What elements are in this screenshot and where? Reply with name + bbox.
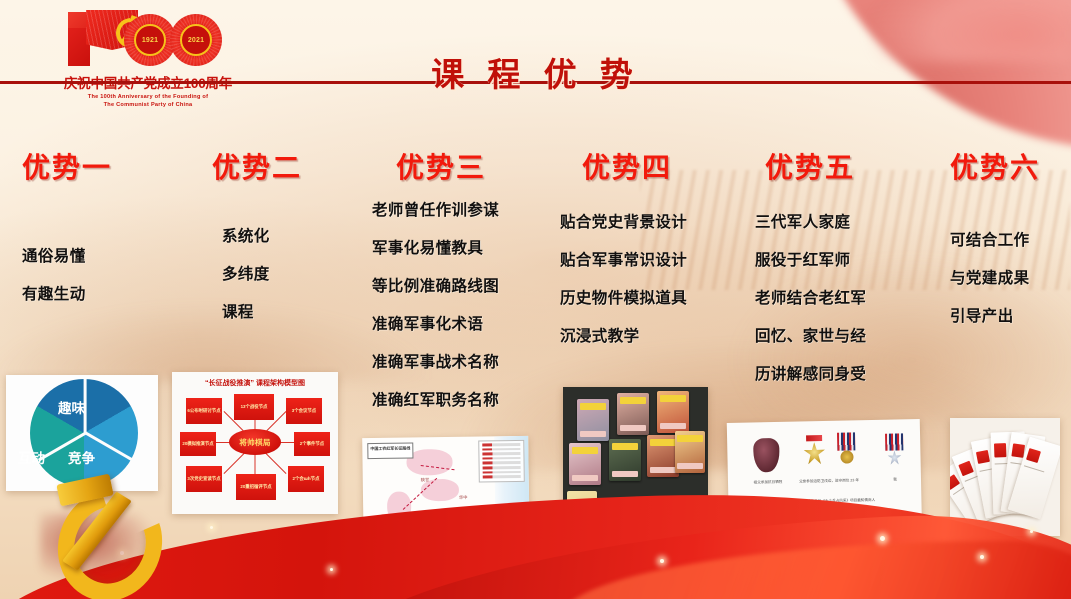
advantage-item: 与党建成果 bbox=[950, 266, 1071, 288]
model-diagram-title: “长征战役推演” 课程架构模型图 bbox=[172, 378, 338, 388]
legend-entry bbox=[482, 457, 520, 460]
advantage-item: 准确军事战术名称 bbox=[372, 350, 552, 372]
card-footer-strip bbox=[660, 423, 687, 429]
model-node: 6公布咐研讨节点 bbox=[186, 398, 222, 424]
medal-badge bbox=[753, 438, 780, 473]
medal-star-shape bbox=[803, 442, 825, 464]
map-province-label: 陕甘 bbox=[421, 477, 429, 483]
advantage-heading-2: 优势二 bbox=[212, 146, 362, 186]
document-logo bbox=[1026, 448, 1041, 463]
card-title-strip bbox=[572, 447, 599, 454]
medal-ribbon-striped bbox=[837, 432, 855, 450]
game-card bbox=[569, 443, 601, 485]
slide-root: 1921 2021 庆祝中国共产党成立100周年 The 100th Anniv… bbox=[0, 0, 1071, 599]
medal-caption: 我 bbox=[882, 477, 908, 483]
logo-year-right: 2021 bbox=[188, 37, 204, 44]
advantage-item: 三代军人家庭 bbox=[755, 210, 935, 232]
advantage-column-2: 优势二 系统化 多纬度 课程 bbox=[212, 146, 362, 338]
game-card bbox=[679, 499, 705, 547]
advantage-heading-5: 优势五 bbox=[755, 146, 935, 186]
document-logo bbox=[959, 461, 974, 476]
advantage-item: 贴合党史背景设计 bbox=[560, 210, 740, 232]
logo-year-left: 1921 bbox=[142, 37, 158, 44]
advantage-items-4: 贴合党史背景设计 贴合军事常识设计 历史物件模拟道具 沉浸式教学 bbox=[560, 210, 740, 346]
map-province-label: 华东 bbox=[475, 512, 483, 518]
advantage-heading-6: 优势六 bbox=[950, 146, 1071, 186]
game-card bbox=[609, 439, 641, 481]
medal-caption: 祖父参加抗日牺牲 bbox=[742, 480, 794, 486]
medal-caption: 老师获得原中央军区授予番号《九个兵占风采》项目最知情商人 bbox=[728, 497, 921, 506]
document-logo bbox=[976, 450, 990, 464]
advantage-items-1: 通俗易懂 有趣生动 bbox=[22, 244, 192, 304]
card-footer-strip bbox=[572, 475, 599, 481]
document-logo bbox=[994, 444, 1006, 458]
advantage-items-3: 老师曾任作训参谋 军事化易懂教具 等比例准确路线图 准确军事化术语 准确军事战术… bbox=[372, 198, 552, 410]
card-title-strip bbox=[580, 403, 607, 410]
legend-entry bbox=[483, 475, 521, 478]
legend-entry bbox=[482, 448, 520, 451]
model-node: 20模拟推演节点 bbox=[180, 432, 216, 456]
advantage-item: 准确军事化术语 bbox=[372, 312, 552, 334]
page-title-text: 课 程 优 势 bbox=[415, 48, 656, 96]
advantage-column-1: 优势一 通俗易懂 有趣生动 bbox=[22, 146, 192, 320]
sparkle-icon bbox=[210, 526, 213, 529]
sparkle-icon bbox=[660, 559, 664, 563]
advantage-column-6: 优势六 可结合工作 与党建成果 引导产出 bbox=[950, 146, 1071, 342]
model-center-node: 将帅棋局 bbox=[229, 429, 281, 455]
advantage-item: 老师曾任作训参谋 bbox=[372, 198, 552, 220]
long-march-map-image: 陕甘 华中 华东 华南 中国工农红军长征路线 bbox=[362, 436, 530, 556]
map-province-label: 华南 bbox=[449, 515, 457, 521]
medal-caption: 父亲参加边防卫戍边，驻守岗位 23 年 bbox=[790, 478, 868, 485]
pie-slice-label: 趣味 bbox=[58, 397, 85, 417]
game-card bbox=[643, 501, 673, 547]
advantage-item: 准确红军职务名称 bbox=[372, 388, 552, 410]
advantage-item: 贴合军事常识设计 bbox=[560, 248, 740, 270]
advantage-column-4: 优势四 贴合党史背景设计 贴合军事常识设计 历史物件模拟道具 沉浸式教学 bbox=[560, 146, 740, 362]
pie-slice-label: 竞争 bbox=[68, 447, 95, 467]
advantage-item: 历讲解感同身受 bbox=[755, 362, 935, 384]
map-province-label: 华中 bbox=[459, 495, 467, 501]
advantage-heading-3: 优势三 bbox=[372, 146, 552, 186]
medal-striped-2 bbox=[883, 433, 906, 471]
medal-caption: 事勒小品《军建上岗》故事原型发生地 bbox=[729, 515, 922, 524]
game-card bbox=[567, 491, 597, 547]
advantage-item: 回忆、家世与经 bbox=[755, 324, 935, 346]
game-card bbox=[675, 431, 705, 473]
advantage-items-2: 系统化 多纬度 课程 bbox=[212, 224, 362, 322]
map-legend bbox=[478, 440, 525, 483]
party-emblem-decoration bbox=[22, 473, 182, 593]
legend-entry bbox=[483, 471, 521, 474]
map-route-line bbox=[382, 520, 440, 536]
card-title-strip bbox=[612, 443, 639, 450]
advantage-item: 课程 bbox=[222, 300, 362, 322]
advantage-heading-4: 优势四 bbox=[560, 146, 740, 186]
card-footer-strip bbox=[620, 425, 647, 431]
game-cards-photo bbox=[563, 387, 708, 553]
advantage-item: 历史物件模拟道具 bbox=[560, 286, 740, 308]
advantage-item: 老师结合老红军 bbox=[755, 286, 935, 308]
advantage-item: 军事化易懂教具 bbox=[372, 236, 552, 258]
card-footer-strip bbox=[612, 471, 639, 477]
medal-striped bbox=[835, 432, 858, 472]
advantage-heading-1: 优势一 bbox=[22, 146, 192, 186]
medal-ribbon bbox=[806, 435, 822, 441]
medal-ribbon-striped bbox=[885, 433, 903, 450]
pie-chart bbox=[30, 379, 138, 487]
model-node: 20重招循评节点 bbox=[236, 474, 276, 500]
map-title-box: 中国工农红军长征路线 bbox=[367, 442, 413, 459]
sparkle-icon bbox=[980, 555, 984, 559]
advantage-item: 通俗易懂 bbox=[22, 244, 192, 266]
medal-star-shape bbox=[887, 450, 901, 464]
advantage-item: 有趣生动 bbox=[22, 282, 192, 304]
legend-entry bbox=[482, 452, 520, 455]
advantage-column-3: 优势三 老师曾任作训参谋 军事化易懂教具 等比例准确路线图 准确军事化术语 准确… bbox=[372, 146, 552, 426]
advantage-items-6: 可结合工作 与党建成果 引导产出 bbox=[950, 228, 1071, 326]
legend-entry bbox=[483, 466, 521, 469]
game-card bbox=[617, 393, 649, 435]
advantage-item: 多纬度 bbox=[222, 262, 362, 284]
medal-star bbox=[803, 435, 826, 471]
advantage-item: 系统化 bbox=[222, 224, 362, 246]
medals-photo: 祖父参加抗日牺牲 父亲参加边防卫戍边，驻守岗位 23 年 我 老师获得原中央军区… bbox=[727, 419, 922, 543]
model-node: 2个事件节点 bbox=[294, 432, 330, 456]
advantage-items-5: 三代军人家庭 服役于红军师 老师结合老红军 回忆、家世与经 历讲解感同身受 bbox=[755, 210, 935, 384]
advantage-item: 服役于红军师 bbox=[755, 248, 935, 270]
model-node: 3个会议节点 bbox=[286, 398, 322, 424]
course-model-diagram-image: “长征战役推演” 课程架构模型图 13个战役节点 3个会议节点 2个事件节点 2… bbox=[172, 372, 338, 514]
advantage-column-5: 优势五 三代军人家庭 服役于红军师 老师结合老红军 回忆、家世与经 历讲解感同身… bbox=[755, 146, 935, 400]
document-line bbox=[1024, 465, 1044, 472]
advantage-item: 沉浸式教学 bbox=[560, 324, 740, 346]
card-title-strip bbox=[677, 435, 702, 442]
party-documents-photo bbox=[950, 418, 1060, 536]
advantage-item: 可结合工作 bbox=[950, 228, 1071, 250]
model-node: 3次党史宣读节点 bbox=[186, 466, 222, 492]
model-node: 13个战役节点 bbox=[234, 394, 274, 420]
card-title-strip bbox=[650, 439, 677, 446]
sparkle-icon bbox=[330, 568, 333, 571]
advantage-item: 等比例准确路线图 bbox=[372, 274, 552, 296]
map-region-blob bbox=[387, 491, 411, 521]
logo-english-line-2: The Communist Party of China bbox=[62, 101, 234, 109]
game-card bbox=[607, 501, 637, 547]
legend-entry bbox=[483, 461, 521, 464]
card-footer-strip bbox=[650, 467, 677, 473]
game-card bbox=[657, 391, 689, 433]
pie-slice-label: 互动 bbox=[18, 447, 45, 467]
card-footer-strip bbox=[677, 463, 702, 469]
game-card bbox=[577, 399, 609, 441]
legend-entry bbox=[482, 443, 520, 446]
medal-disc bbox=[840, 450, 853, 463]
card-footer-strip bbox=[580, 431, 607, 437]
advantage-item: 引导产出 bbox=[950, 304, 1071, 326]
card-title-strip bbox=[620, 397, 647, 404]
page-title: 课 程 优 势 bbox=[0, 48, 1071, 96]
document-logo bbox=[950, 474, 960, 489]
card-title-strip bbox=[660, 395, 687, 402]
model-node: 2个会ահ节点 bbox=[288, 466, 324, 492]
